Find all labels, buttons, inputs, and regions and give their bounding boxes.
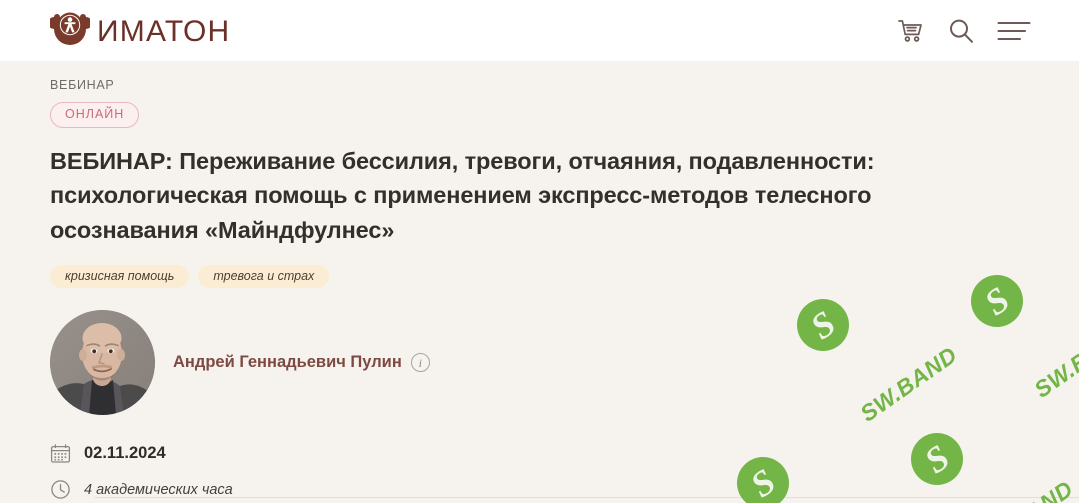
author-name-wrap: Андрей Геннадьевич Пулин i bbox=[173, 353, 430, 372]
site-logo[interactable]: ИМАТОН bbox=[50, 11, 230, 51]
course-date: 02.11.2024 bbox=[84, 444, 166, 463]
page-root: ИМАТОН bbox=[0, 0, 1079, 503]
course-duration: 4 академических часа bbox=[84, 482, 233, 498]
format-badge-online[interactable]: ОНЛАЙН bbox=[50, 102, 139, 128]
tag-row: кризисная помощь тревога и страх bbox=[50, 265, 1079, 289]
calendar-icon bbox=[50, 443, 71, 464]
hamburger-menu-icon[interactable] bbox=[997, 20, 1031, 42]
course-kicker: ВЕБИНАР bbox=[50, 78, 1079, 92]
site-header: ИМАТОН bbox=[0, 0, 1079, 61]
author-row: Андрей Геннадьевич Пулин i bbox=[50, 310, 1079, 415]
meta-item-date: 02.11.2024 bbox=[50, 443, 1079, 464]
page-title: ВЕБИНАР: Переживание бессилия, тревоги, … bbox=[50, 144, 880, 248]
meta-item-duration: 4 академических часа bbox=[50, 479, 1079, 500]
brand-name: ИМАТОН bbox=[97, 17, 230, 47]
tag-item[interactable]: тревога и страх bbox=[198, 265, 329, 289]
clock-icon bbox=[50, 479, 71, 500]
cart-icon[interactable] bbox=[897, 18, 925, 44]
imaton-emblem-icon bbox=[50, 11, 90, 51]
tag-item[interactable]: кризисная помощь bbox=[50, 265, 189, 289]
course-content: ВЕБИНАР ОНЛАЙН ВЕБИНАР: Переживание бесс… bbox=[0, 78, 1079, 500]
badge-row: ОНЛАЙН bbox=[50, 102, 1079, 128]
info-icon[interactable]: i bbox=[411, 353, 430, 372]
search-icon[interactable] bbox=[947, 17, 975, 45]
author-avatar[interactable] bbox=[50, 310, 155, 415]
header-actions bbox=[897, 17, 1031, 45]
author-name[interactable]: Андрей Геннадьевич Пулин bbox=[173, 353, 402, 372]
meta-list: 02.11.2024 4 академических часа bbox=[50, 443, 1079, 500]
